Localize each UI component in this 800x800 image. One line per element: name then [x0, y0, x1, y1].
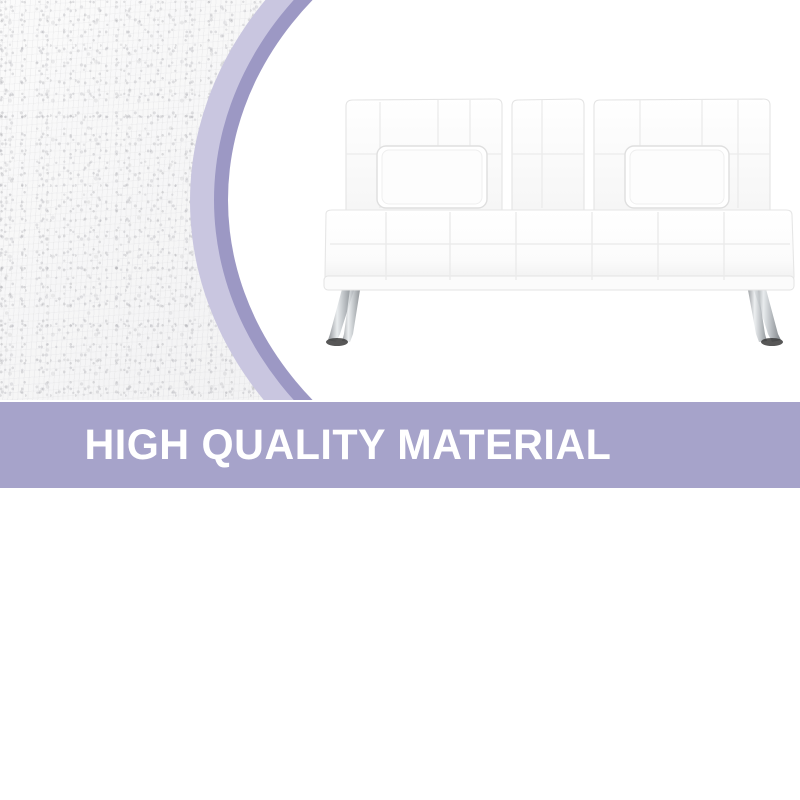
section-banner: HIGH QUALITY MATERIAL — [0, 402, 800, 488]
sofa-legs — [326, 289, 783, 346]
product-image-sofa — [320, 84, 800, 369]
infographic-page: HIGH QUALITY MATERIAL Thicker Sponge — [0, 0, 800, 800]
banner-title: HIGH QUALITY MATERIAL — [0, 424, 611, 467]
hero-section — [0, 0, 800, 400]
features-section: Thicker Sponge — [0, 500, 800, 800]
sofa-seat — [324, 210, 794, 290]
